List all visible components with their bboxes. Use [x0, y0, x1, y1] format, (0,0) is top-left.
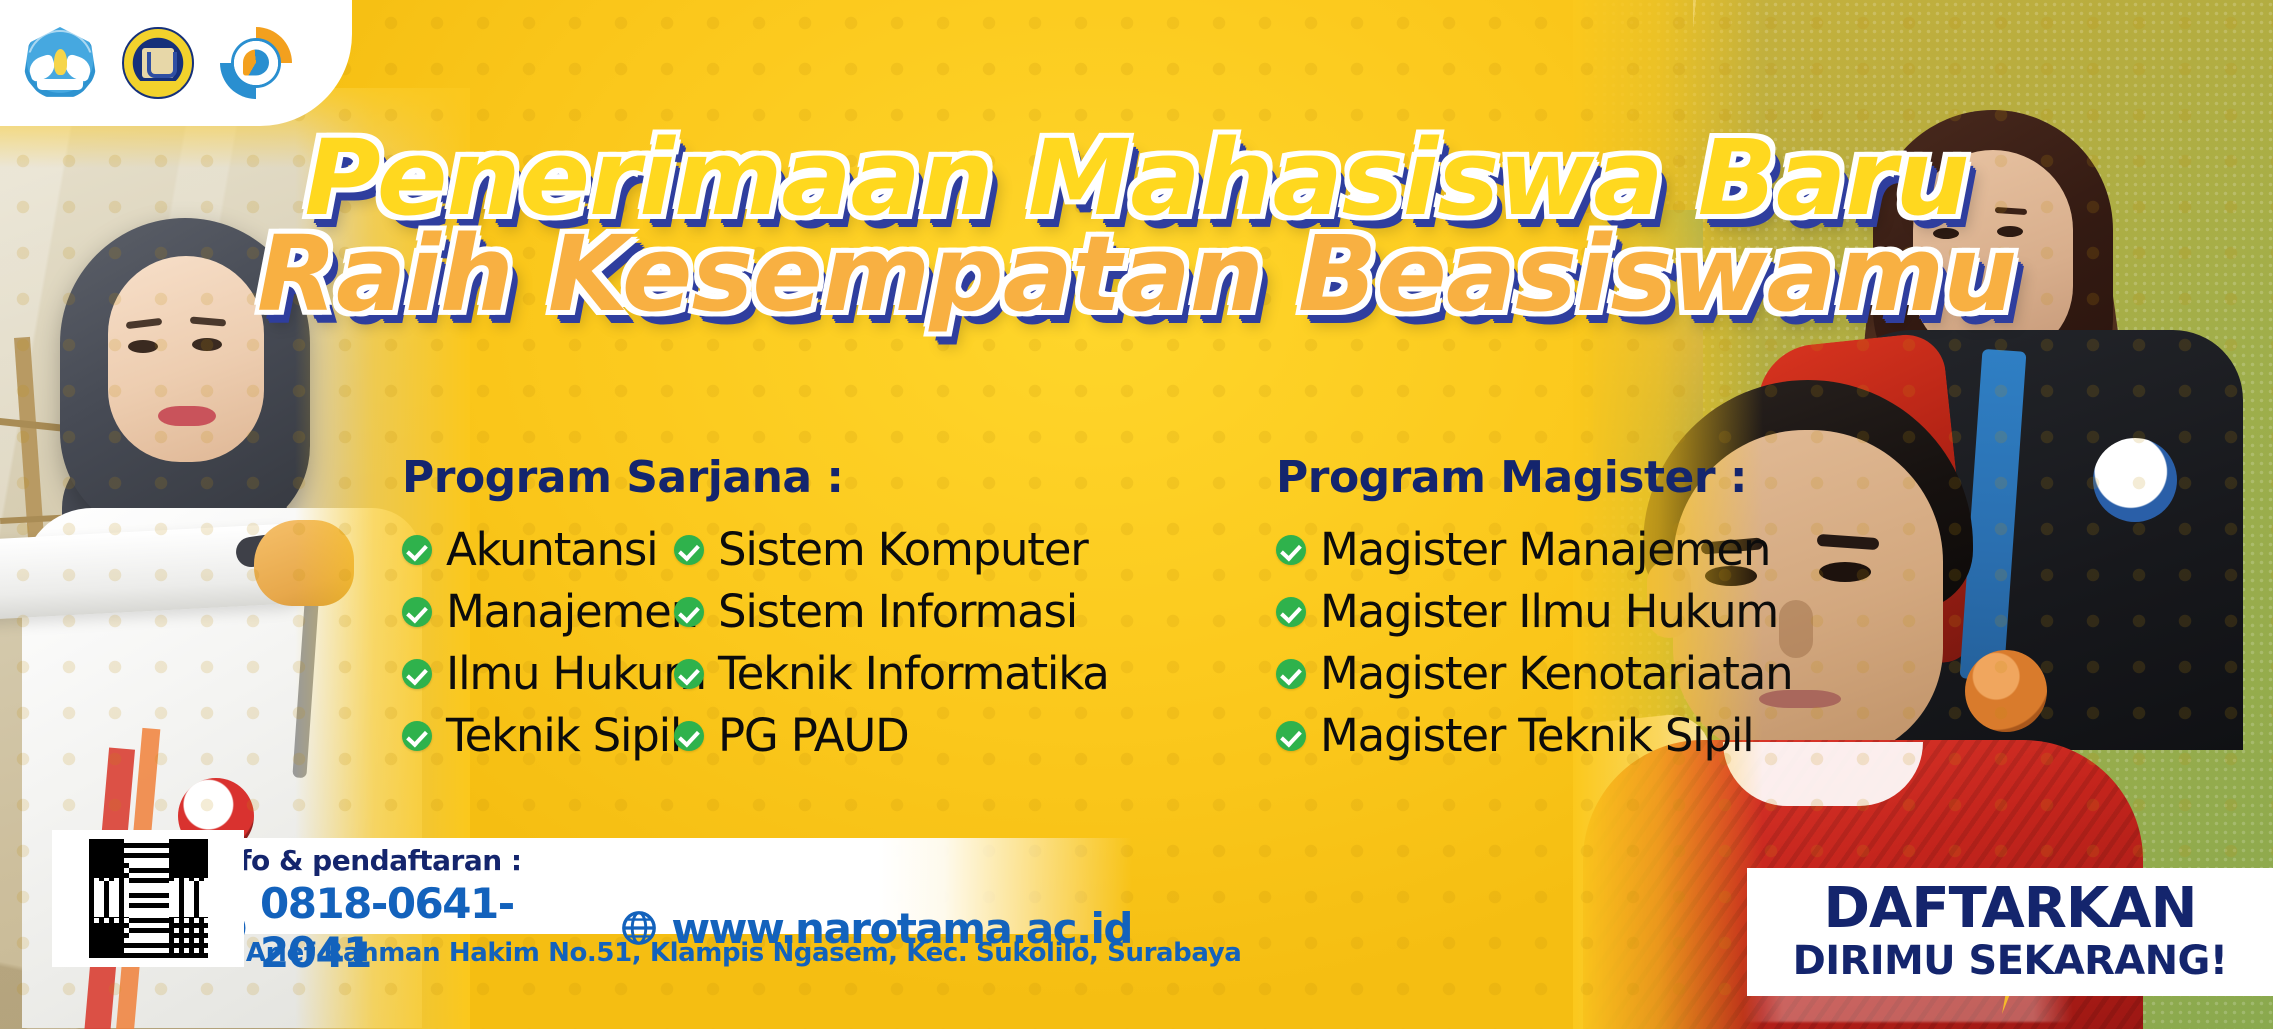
check-icon — [1276, 659, 1306, 689]
contact-title: Info & pendaftaran : — [210, 838, 1132, 877]
list-item: Ilmu Hukum — [402, 651, 674, 696]
list-item: Sistem Komputer — [674, 527, 1109, 572]
book-shape — [37, 79, 83, 90]
check-icon — [402, 597, 432, 627]
list-item: PG PAUD — [674, 713, 1109, 758]
campus-address: Jl. Arief Rahman Hakim No.51, Klampis Ng… — [210, 938, 1241, 968]
check-icon — [674, 597, 704, 627]
logo-ribbon — [135, 81, 181, 90]
program-label: Teknik Informatika — [718, 651, 1109, 696]
list-item: Magister Manajemen — [1276, 527, 1976, 572]
check-icon — [1276, 597, 1306, 627]
program-label: Manajemen — [446, 589, 698, 634]
institution-logos-panel — [0, 0, 352, 126]
program-magister-heading: Program Magister : — [1276, 452, 1976, 503]
program-label: Ilmu Hukum — [446, 651, 706, 696]
check-icon — [1276, 721, 1306, 751]
list-item: Teknik Sipil — [402, 713, 674, 758]
promo-poster: Penerimaan Mahasiswa Baru Raih Kesempata… — [0, 0, 2273, 1029]
cta-line-1: DAFTARKAN — [1824, 881, 2197, 937]
program-sarjana-section: Program Sarjana : Akuntansi Manajemen Il… — [402, 452, 1262, 775]
eye — [1997, 226, 2023, 237]
program-label: Magister Manajemen — [1320, 527, 1770, 572]
lips — [158, 406, 216, 426]
archer-face — [108, 256, 264, 462]
program-label: Magister Ilmu Hukum — [1320, 589, 1778, 634]
qr-data-modules — [89, 881, 208, 917]
program-label: Sistem Informasi — [718, 589, 1077, 634]
list-item: Teknik Informatika — [674, 651, 1109, 696]
program-lists: Program Sarjana : Akuntansi Manajemen Il… — [0, 452, 2273, 775]
program-label: PG PAUD — [718, 713, 909, 758]
tut-wuri-handayani-logo — [24, 27, 96, 99]
list-item: Magister Teknik Sipil — [1276, 713, 1976, 758]
eye — [1933, 228, 1959, 239]
diktisaintek-berdampak-logo — [220, 27, 292, 99]
person-glyph — [243, 49, 269, 75]
program-label: Akuntansi — [446, 527, 657, 572]
list-item: Manajemen — [402, 589, 674, 634]
check-icon — [402, 721, 432, 751]
list-item: Magister Kenotariatan — [1276, 651, 1976, 696]
cta-line-2: DIRIMU SEKARANG! — [1793, 939, 2228, 983]
check-icon — [674, 535, 704, 565]
check-icon — [1276, 535, 1306, 565]
eye — [128, 340, 158, 353]
program-label: Magister Teknik Sipil — [1320, 713, 1753, 758]
eye — [192, 338, 222, 351]
registration-qr-code[interactable] — [89, 839, 208, 958]
check-icon — [402, 659, 432, 689]
program-magister-section: Program Magister : Magister Manajemen Ma… — [1276, 452, 1976, 775]
list-item: Akuntansi — [402, 527, 674, 572]
list-item: Sistem Informasi — [674, 589, 1109, 634]
magister-list: Magister Manajemen Magister Ilmu Hukum M… — [1276, 527, 1976, 758]
qr-code-panel[interactable] — [52, 830, 244, 967]
check-icon — [674, 659, 704, 689]
sarjana-list-column-1: Akuntansi Manajemen Ilmu Hukum Teknik Si… — [402, 527, 674, 775]
program-label: Teknik Sipil — [446, 713, 681, 758]
universitas-narotama-logo — [122, 27, 194, 99]
program-label: Sistem Komputer — [718, 527, 1088, 572]
program-sarjana-heading: Program Sarjana : — [402, 452, 1262, 503]
check-icon — [674, 721, 704, 751]
flame-shape — [54, 49, 67, 75]
contact-bar: Info & pendaftaran : 0818-0641-2041 www.… — [192, 838, 1132, 934]
list-item: Magister Ilmu Hukum — [1276, 589, 1976, 634]
program-label: Magister Kenotariatan — [1320, 651, 1792, 696]
female-athlete-face — [1913, 150, 2073, 360]
un-monogram — [142, 48, 174, 78]
sarjana-list-column-2: Sistem Komputer Sistem Informasi Teknik … — [674, 527, 1109, 775]
lips — [1961, 292, 2009, 308]
check-icon — [402, 535, 432, 565]
cta-band[interactable]: DAFTARKAN DIRIMU SEKARANG! — [1747, 868, 2273, 996]
